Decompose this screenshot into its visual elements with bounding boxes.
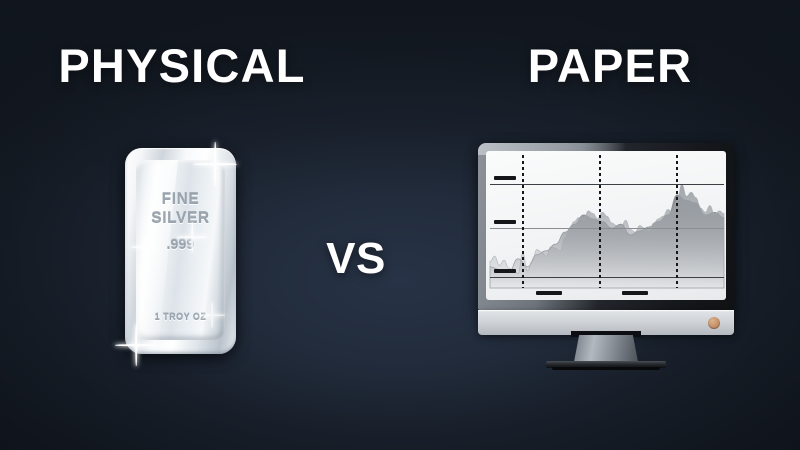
- price-chart: [486, 151, 726, 300]
- silver-bar-face: FINE SILVER .999 1 TROY OZ: [136, 160, 225, 340]
- chart-y-axis-label-mark: [494, 269, 516, 273]
- chart-gridline-horizontal: [490, 184, 724, 185]
- silver-bar: FINE SILVER .999 1 TROY OZ: [125, 148, 236, 354]
- chart-gridline-horizontal: [490, 277, 724, 278]
- computer-monitor: [478, 143, 734, 371]
- chart-series-price: [490, 184, 724, 288]
- chart-y-axis-label-mark: [494, 176, 516, 180]
- monitor-stand-base-edge: [552, 367, 660, 370]
- chart-x-axis-label-mark: [536, 291, 562, 295]
- bar-label-silver: SILVER: [136, 210, 225, 228]
- chart-gridline-horizontal: [490, 228, 724, 229]
- bar-label-fine: FINE: [136, 191, 225, 209]
- bar-label-purity: .999: [136, 236, 225, 252]
- bar-label-weight: 1 TROY OZ: [136, 312, 225, 322]
- chart-x-axis-label-mark: [622, 291, 648, 295]
- heading-physical: PHYSICAL: [0, 42, 364, 89]
- chart-gridline-vertical: [599, 155, 601, 288]
- monitor-stand-neck: [574, 335, 638, 362]
- chart-gridline-vertical: [676, 155, 678, 288]
- monitor-bezel: [478, 143, 734, 310]
- monitor-screen: [486, 151, 726, 300]
- versus-label: VS: [316, 237, 396, 281]
- heading-paper: PAPER: [420, 42, 800, 89]
- infographic-canvas: PHYSICAL PAPER VS FINE SILVER .999 1 TRO…: [0, 0, 800, 450]
- power-indicator-dot[interactable]: [708, 317, 720, 329]
- chart-y-axis-label-mark: [494, 220, 516, 224]
- chart-gridline-vertical: [522, 155, 524, 288]
